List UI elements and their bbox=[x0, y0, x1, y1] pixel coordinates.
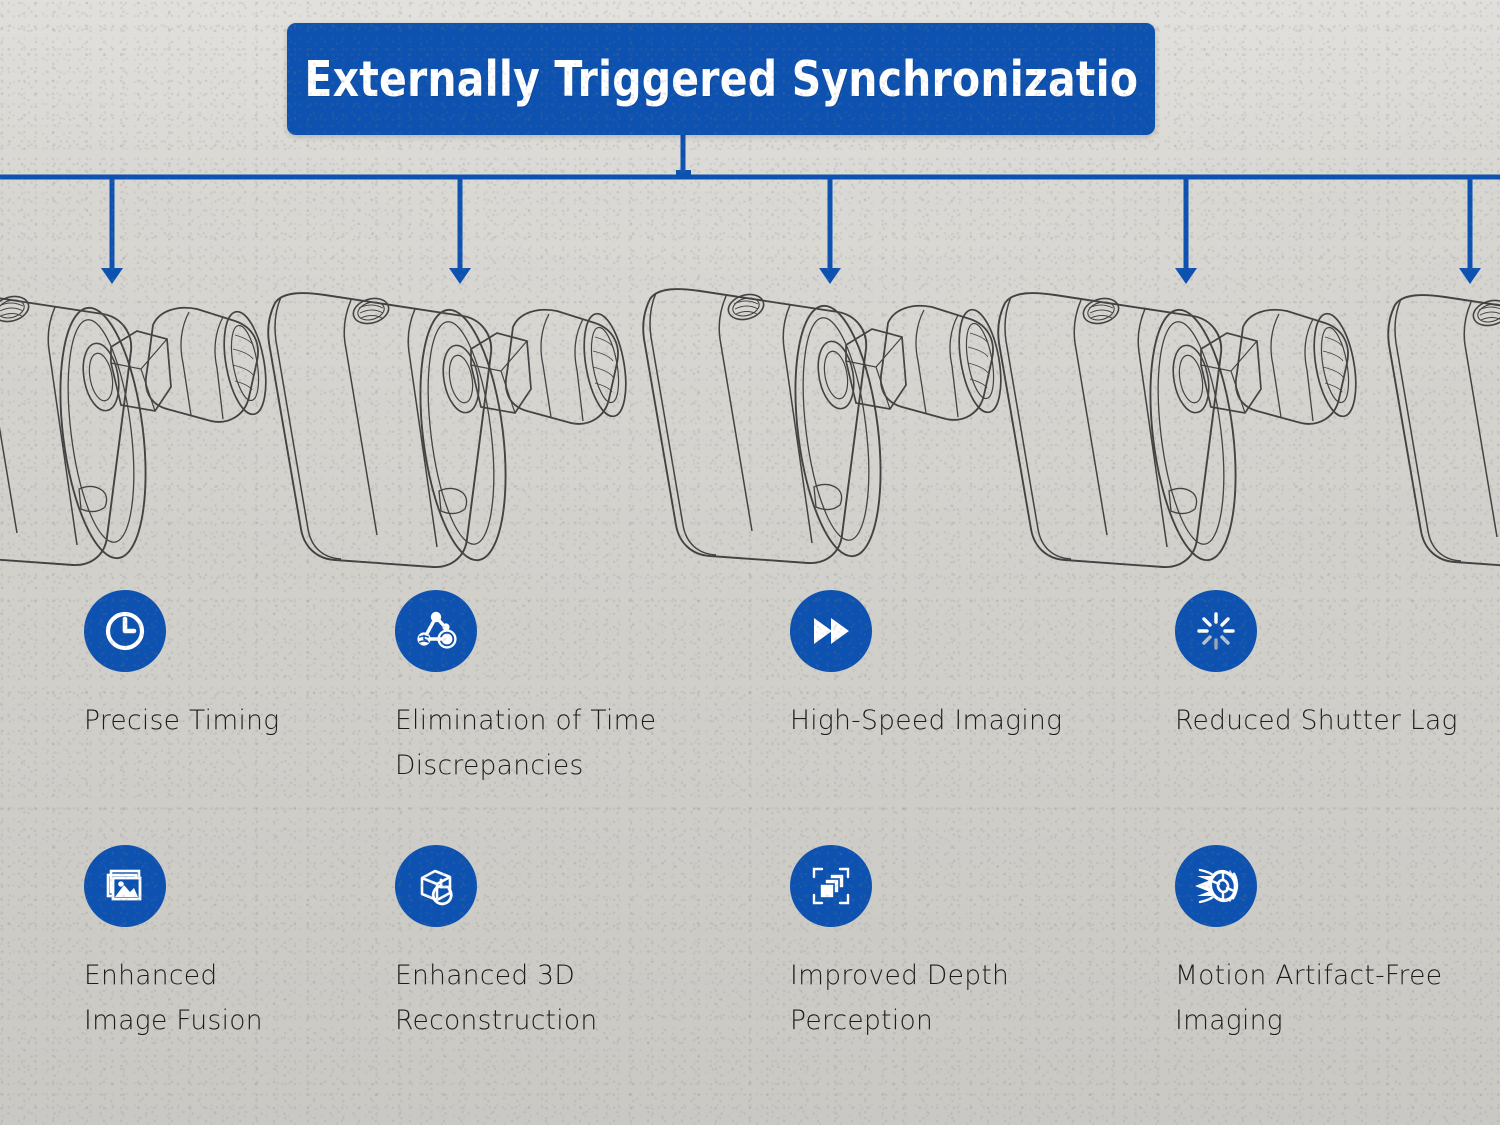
camera-module-2 bbox=[268, 293, 632, 567]
camera-module-4 bbox=[998, 293, 1362, 567]
arrowhead-3 bbox=[819, 268, 841, 284]
feature-item-improved-depth-perception[interactable]: Improved Depth Perception bbox=[790, 845, 1120, 1043]
stacked-photos-icon bbox=[84, 845, 166, 927]
feature-item-motion-artifact-free-imaging[interactable]: Motion Artifact-Free Imaging bbox=[1175, 845, 1500, 1043]
arrowhead-4 bbox=[1175, 268, 1197, 284]
feature-label: Enhanced Image Fusion bbox=[84, 953, 414, 1043]
page-title: Externally Triggered Synchronizatio bbox=[304, 55, 1138, 104]
arrowhead-2 bbox=[449, 268, 471, 284]
title-banner: Externally Triggered Synchronizatio bbox=[287, 23, 1155, 135]
fast-forward-icon bbox=[790, 590, 872, 672]
feature-item-reduced-shutter-lag[interactable]: Reduced Shutter Lag bbox=[1175, 590, 1500, 743]
camera-module-1 bbox=[0, 291, 273, 565]
feature-item-elimination-of-time-discrepancies[interactable]: Elimination of Time Discrepancies bbox=[395, 590, 725, 788]
spinner-shutter-icon bbox=[1175, 590, 1257, 672]
feature-label: Elimination of Time Discrepancies bbox=[395, 698, 725, 788]
feature-item-precise-timing[interactable]: Precise Timing bbox=[84, 590, 414, 743]
layered-squares-focus-icon bbox=[790, 845, 872, 927]
time-network-nodes-icon bbox=[395, 590, 477, 672]
clock-icon bbox=[84, 590, 166, 672]
feature-item-enhanced-image-fusion[interactable]: Enhanced Image Fusion bbox=[84, 845, 414, 1043]
feature-label: Precise Timing bbox=[84, 698, 414, 743]
feature-label: High-Speed Imaging bbox=[790, 698, 1120, 743]
feature-label: Improved Depth Perception bbox=[790, 953, 1120, 1043]
feature-item-high-speed-imaging[interactable]: High-Speed Imaging bbox=[790, 590, 1120, 743]
camera-module-3 bbox=[643, 289, 1007, 563]
arrowhead-5 bbox=[1459, 268, 1481, 284]
arrowhead-1 bbox=[101, 268, 123, 284]
cube-rotate-icon bbox=[395, 845, 477, 927]
motion-blur-wheel-icon bbox=[1175, 845, 1257, 927]
stem-tee bbox=[676, 170, 691, 178]
camera-module-5 bbox=[1388, 295, 1500, 569]
feature-label: Enhanced 3D Reconstruction bbox=[395, 953, 725, 1043]
feature-item-enhanced-3d-reconstruction[interactable]: Enhanced 3D Reconstruction bbox=[395, 845, 725, 1043]
feature-label: Motion Artifact-Free Imaging bbox=[1175, 953, 1500, 1043]
feature-label: Reduced Shutter Lag bbox=[1175, 698, 1500, 743]
